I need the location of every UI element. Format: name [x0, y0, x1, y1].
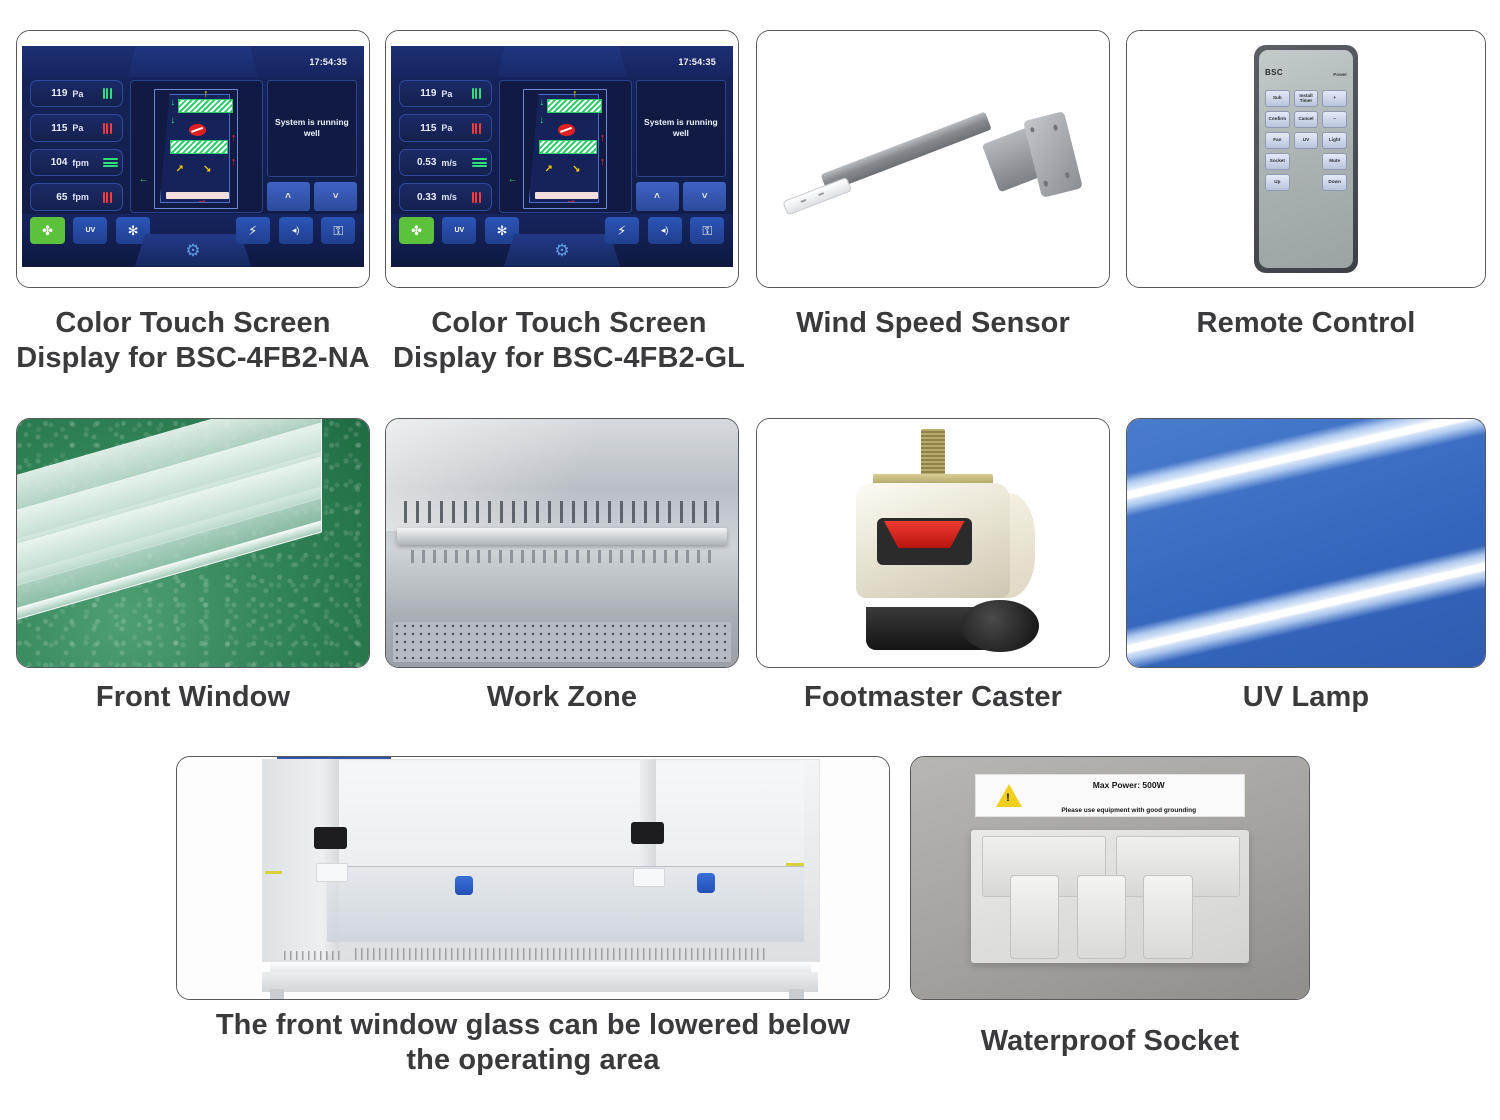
speaker-icon[interactable]: ◂)	[279, 217, 313, 244]
socket-prong	[1077, 875, 1126, 960]
readout-value: 104	[35, 157, 72, 168]
screw-icon	[1064, 173, 1069, 179]
level-bars-red-icon	[103, 123, 118, 134]
readout-unit: Pa	[72, 89, 102, 99]
readout-value: 0.33	[404, 192, 441, 203]
readout-row[interactable]: 119 Pa	[30, 80, 122, 108]
readout-unit: fpm	[72, 192, 102, 202]
key-cancel[interactable]: Cancel	[1294, 111, 1319, 128]
caption-front-window: Front Window	[16, 680, 370, 715]
socket-icon[interactable]: ⚡	[236, 217, 270, 244]
shelf-rail	[397, 528, 728, 545]
cabinet-leg	[789, 989, 803, 999]
key-spacer	[1294, 153, 1319, 170]
screen-header: 17:54:35	[391, 46, 733, 77]
arrow-up-yellow-icon: ↑	[203, 89, 209, 100]
uv-tube-core	[1126, 418, 1486, 514]
lower-vent-slots	[411, 550, 714, 562]
socket-icon[interactable]: ⚡	[605, 217, 639, 244]
airflow-diagram-na: ↑ ↓ ↓ ↑ ↑ ↗ ↘ ← →	[130, 80, 264, 213]
readout-unit: m/s	[441, 192, 471, 202]
sash-support-post	[640, 759, 656, 870]
sash-clamp-icon	[631, 822, 664, 844]
readout-unit: Pa	[441, 89, 471, 99]
header-notch	[128, 46, 258, 77]
level-bars-red-icon	[472, 123, 487, 134]
sash-bracket	[633, 868, 665, 887]
key-up[interactable]: Up	[1265, 174, 1290, 191]
socket-plate	[971, 830, 1250, 963]
nav-up-button[interactable]: ˄	[267, 182, 310, 211]
arrow-diag-yellow-icon: ↘	[572, 165, 580, 175]
level-bars-red-icon	[472, 192, 487, 203]
icon-bar-na: ✤ UV ✻ ⚙ ⚡ ◂) ⚿	[22, 214, 364, 267]
wind-speed-sensor-image	[757, 31, 1109, 287]
key-plus[interactable]: +	[1322, 90, 1347, 107]
sensor-mount-flange	[1023, 112, 1083, 199]
key-light[interactable]: Light	[1322, 132, 1347, 149]
blue-socket-icon	[697, 873, 716, 892]
arrow-up-red-icon: ↑	[231, 157, 237, 168]
readout-value: 115	[404, 123, 441, 134]
uv-lamp-image	[1127, 419, 1485, 667]
settings-tab[interactable]: ⚙	[504, 234, 620, 267]
touch-screen-gl-image: 17:54:35 119 Pa 115 Pa	[386, 31, 738, 287]
status-message-gl: System is running well	[636, 80, 727, 177]
speaker-icon[interactable]: ◂)	[648, 217, 682, 244]
lowered-glass-sash	[327, 866, 804, 942]
key-minus[interactable]: −	[1322, 111, 1347, 128]
readout-value: 65	[35, 192, 72, 203]
arrow-up-red-icon: ↑	[600, 133, 606, 144]
caster-threaded-stem	[921, 429, 946, 476]
key-spacer	[1294, 174, 1319, 191]
arrow-down-green-icon: ↓	[539, 116, 544, 126]
socket-prong	[1010, 875, 1059, 960]
caption-footmaster-caster: Footmaster Caster	[756, 680, 1110, 715]
key-confirm[interactable]: Confirm	[1265, 111, 1290, 128]
card-footmaster-caster[interactable]	[756, 418, 1110, 668]
hepa-filter-top-icon	[547, 99, 602, 113]
key-uv[interactable]: UV	[1294, 132, 1319, 149]
arrow-up-yellow-icon: ↑	[572, 89, 578, 100]
sash-clamp-icon	[314, 827, 347, 849]
cabinet-interior-image	[177, 757, 889, 999]
screen-header: 17:54:35	[22, 46, 364, 77]
remote-control-image: BSC Power Sub Install Timer + Confirm Ca…	[1127, 31, 1485, 287]
lower-air-grille	[355, 948, 768, 960]
uv-icon[interactable]: UV	[73, 217, 107, 244]
sash-bracket	[316, 863, 348, 882]
readout-row[interactable]: 119 Pa	[399, 80, 491, 108]
key-sub[interactable]: Sub	[1265, 90, 1290, 107]
readout-row[interactable]: 115 Pa	[30, 114, 122, 142]
power-area: Power	[1333, 63, 1347, 81]
arrow-left-green-icon: ←	[508, 175, 518, 185]
hepa-filter-mid-icon	[170, 140, 227, 154]
sensor-slot-icon	[818, 192, 824, 196]
nav-buttons-gl: ˄ ˅	[636, 182, 727, 211]
airflow-diagram-gl: ↑ ↓ ↓ ↑ ↑ ↗ ↘ ← →	[499, 80, 633, 213]
screen-bezel: 17:54:35 119 Pa 115 Pa	[22, 46, 364, 266]
arrow-down-green-icon: ↓	[539, 98, 544, 108]
screw-icon	[1029, 127, 1034, 133]
card-front-window-lowered[interactable]	[176, 756, 890, 1000]
remote-top-row: BSC Power	[1265, 57, 1347, 87]
level-bars-red-icon	[103, 192, 118, 203]
level-bars-green-icon	[103, 158, 118, 168]
settings-tab[interactable]: ⚙	[135, 234, 251, 267]
arrow-right-red-icon: →	[566, 195, 577, 206]
readout-value: 0.53	[404, 157, 441, 168]
card-work-zone[interactable]	[385, 418, 739, 668]
readout-value: 119	[35, 88, 72, 99]
readout-value: 119	[404, 88, 441, 99]
front-window-image	[17, 419, 369, 667]
screw-icon	[1043, 181, 1048, 187]
hepa-filter-top-icon	[178, 99, 233, 113]
key-socket[interactable]: Socket	[1265, 153, 1290, 170]
readout-unit: Pa	[72, 123, 102, 133]
card-front-window[interactable]	[16, 418, 370, 668]
screen-bezel: 17:54:35 119 Pa 115 Pa	[391, 46, 733, 266]
uv-tube	[1126, 418, 1486, 531]
readout-unit: m/s	[441, 158, 471, 168]
caption-touch-screen-na: Color Touch Screen Display for BSC-4FB2-…	[6, 306, 380, 377]
caption-work-zone: Work Zone	[385, 680, 739, 715]
caption-wind-speed-sensor: Wind Speed Sensor	[756, 306, 1110, 341]
no-entry-icon	[189, 124, 206, 136]
key-mute[interactable]: Mute	[1322, 153, 1347, 170]
perforated-grille	[393, 622, 731, 662]
cabinet-base	[262, 972, 817, 991]
caption-remote-control: Remote Control	[1126, 306, 1486, 341]
blue-socket-icon	[455, 876, 474, 895]
nav-down-button[interactable]: ˅	[314, 182, 357, 211]
touch-screen-na-image: 17:54:35 119 Pa 115 Pa	[17, 31, 369, 287]
remote-keypad: Sub Install Timer + Confirm Cancel − Fan…	[1265, 90, 1347, 191]
status-panel-na: System is running well ˄ ˅	[267, 80, 358, 211]
status-panel-gl: System is running well ˄ ˅	[636, 80, 727, 211]
readout-row[interactable]: 115 Pa	[399, 114, 491, 142]
sensor-probe-tip	[782, 177, 852, 216]
screw-icon	[1052, 125, 1057, 131]
arrow-left-green-icon: ←	[139, 175, 149, 185]
remote-faceplate: BSC Power Sub Install Timer + Confirm Ca…	[1259, 50, 1353, 268]
arrow-up-red-icon: ↑	[231, 133, 237, 144]
upper-vent-slots	[404, 501, 721, 523]
warning-title: Max Power: 500W	[1093, 780, 1165, 790]
remote-body: BSC Power Sub Install Timer + Confirm Ca…	[1254, 45, 1358, 273]
nav-buttons-na: ˄ ˅	[267, 182, 358, 211]
readout-unit: Pa	[441, 123, 471, 133]
yellow-marker	[786, 863, 803, 866]
arrow-diag-yellow-icon: ↘	[203, 165, 211, 175]
screen-body-gl: 119 Pa 115 Pa 0.53 m/s	[391, 77, 733, 213]
card-remote-control[interactable]: BSC Power Sub Install Timer + Confirm Ca…	[1126, 30, 1486, 288]
clock-gl: 17:54:35	[678, 57, 716, 67]
arrow-diag-yellow-icon: ↗	[544, 165, 552, 175]
cabinet-leg	[270, 989, 284, 999]
arrow-down-green-icon: ↓	[170, 116, 175, 126]
arrow-right-red-icon: →	[197, 195, 208, 206]
readout-row[interactable]: 65 fpm	[30, 183, 122, 211]
uv-tube	[1126, 523, 1486, 668]
fan-icon[interactable]: ✤	[399, 217, 433, 244]
readout-value: 115	[35, 123, 72, 134]
lock-icon[interactable]: ⚿	[321, 217, 355, 244]
icon-bar-gl: ✤ UV ✻ ⚙ ⚡ ◂) ⚿	[391, 214, 733, 267]
lock-icon[interactable]: ⚿	[690, 217, 724, 244]
remote-brand-label: BSC	[1265, 68, 1283, 77]
nav-down-button[interactable]: ˅	[683, 182, 726, 211]
key-down[interactable]: Down	[1322, 174, 1347, 191]
status-message-na: System is running well	[267, 80, 358, 177]
card-uv-lamp[interactable]	[1126, 418, 1486, 668]
readout-row[interactable]: 104 fpm	[30, 149, 122, 177]
warning-triangle-icon	[996, 784, 1022, 807]
key-install-timer[interactable]: Install Timer	[1294, 90, 1319, 107]
card-touch-screen-na[interactable]: 17:54:35 119 Pa 115 Pa	[16, 30, 370, 288]
side-air-grille	[284, 951, 341, 961]
uv-icon[interactable]: UV	[442, 217, 476, 244]
level-bars-green-icon	[103, 88, 118, 99]
hepa-filter-mid-icon	[539, 140, 596, 154]
arrow-up-red-icon: ↑	[600, 157, 606, 168]
caption-front-window-lowered: The front window glass can be lowered be…	[176, 1008, 890, 1079]
caption-waterproof-socket: Waterproof Socket	[910, 1024, 1310, 1059]
arrow-down-green-icon: ↓	[170, 98, 175, 108]
nav-up-button[interactable]: ˄	[636, 182, 679, 211]
readout-column-gl: 119 Pa 115 Pa 0.53 m/s	[399, 80, 491, 211]
warning-text: Max Power: 500W Please use equipment wit…	[1033, 772, 1224, 820]
clock-na: 17:54:35	[309, 57, 347, 67]
sensor-slot-icon	[800, 199, 806, 203]
readout-row[interactable]: 0.53 m/s	[399, 149, 491, 177]
readout-column-na: 119 Pa 115 Pa 104 fpm	[30, 80, 122, 211]
header-notch	[497, 46, 627, 77]
uv-tube-core	[1126, 539, 1486, 668]
arrow-diag-yellow-icon: ↗	[175, 165, 183, 175]
caption-uv-lamp: UV Lamp	[1126, 680, 1486, 715]
card-waterproof-socket[interactable]: Max Power: 500W Please use equipment wit…	[910, 756, 1310, 1000]
level-bars-green-icon	[472, 158, 487, 168]
work-zone-image	[386, 419, 738, 667]
yellow-marker	[265, 871, 282, 874]
power-label: Power	[1333, 72, 1347, 77]
readout-unit: fpm	[72, 158, 102, 168]
gear-icon: ⚙	[185, 242, 200, 259]
gear-icon: ⚙	[554, 242, 569, 259]
no-entry-icon	[558, 124, 575, 136]
card-touch-screen-gl[interactable]: 17:54:35 119 Pa 115 Pa	[385, 30, 739, 288]
readout-row[interactable]: 0.33 m/s	[399, 183, 491, 211]
level-bars-green-icon	[472, 88, 487, 99]
socket-prong	[1143, 875, 1192, 960]
card-wind-speed-sensor[interactable]	[756, 30, 1110, 288]
warning-note: Please use equipment with good grounding	[1061, 807, 1196, 814]
waterproof-socket-image: Max Power: 500W Please use equipment wit…	[911, 757, 1309, 999]
feature-grid-sheet: 17:54:35 119 Pa 115 Pa	[0, 0, 1500, 1120]
footmaster-caster-image	[757, 419, 1109, 667]
fan-icon[interactable]: ✤	[30, 217, 64, 244]
caption-touch-screen-gl: Color Touch Screen Display for BSC-4FB2-…	[382, 306, 756, 377]
warning-label: Max Power: 500W Please use equipment wit…	[975, 774, 1246, 818]
caster-wheel-side	[961, 600, 1038, 652]
screen-body-na: 119 Pa 115 Pa 104 fpm	[22, 77, 364, 213]
cabinet-left-side	[262, 759, 327, 960]
key-fan[interactable]: Fan	[1265, 132, 1290, 149]
